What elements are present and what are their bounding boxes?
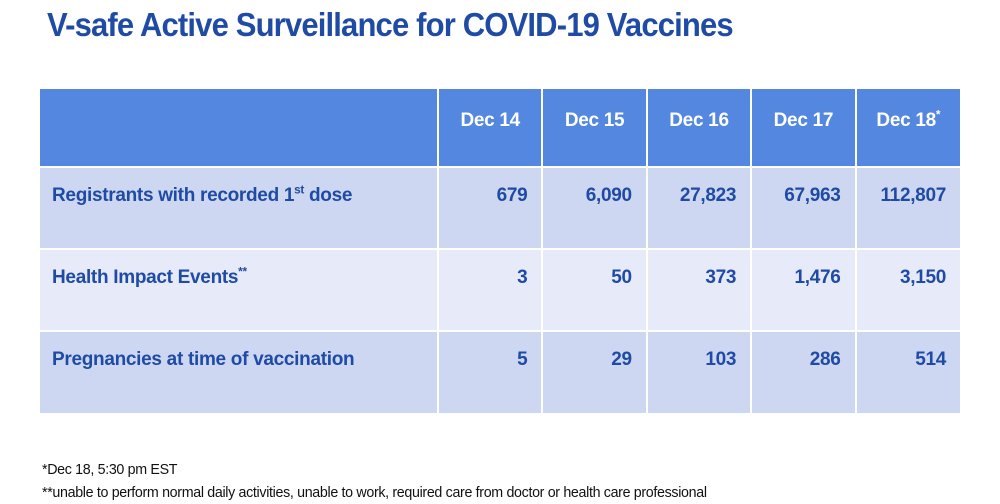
cell-registrants-dec17-value: 67,963 [752,168,854,207]
row-label-registrants: Registrants with recorded 1st dose [40,167,438,249]
cell-pregnancies-dec15: 29 [542,331,646,413]
table-row: Pregnancies at time of vaccination 5 29 … [40,331,960,413]
table-body: Registrants with recorded 1st dose 679 6… [40,167,960,413]
cell-pregnancies-dec14-value: 5 [439,332,541,371]
column-header-dec18: Dec 18* [856,89,960,167]
row-label-health-impact-events-superscript: ** [238,266,247,279]
cell-pregnancies-dec15-value: 29 [543,332,645,371]
column-header-dec14: Dec 14 [438,89,542,167]
column-header-dec17-text: Dec 17 [774,110,833,131]
cell-pregnancies-dec17-value: 286 [752,332,854,371]
row-label-registrants-superscript: st [294,184,304,197]
column-header-dec14-text: Dec 14 [460,110,519,131]
table-row: Registrants with recorded 1st dose 679 6… [40,167,960,249]
cell-health-impact-dec16-value: 373 [648,250,750,289]
column-header-dec15: Dec 15 [542,89,646,167]
slide-canvas: V-safe Active Surveillance for COVID-19 … [0,0,1000,500]
footnote-double-asterisk: **unable to perform normal daily activit… [42,481,945,504]
cell-health-impact-dec16: 373 [647,249,751,331]
row-label-registrants-text-tail: dose [304,185,352,206]
table-header-row: Dec 14 Dec 15 Dec 16 Dec 17 Dec 18* [40,89,960,167]
footnote-asterisk: *Dec 18, 5:30 pm EST [42,458,945,481]
cell-health-impact-dec17: 1,476 [751,249,855,331]
row-label-pregnancies: Pregnancies at time of vaccination [40,331,438,413]
cell-registrants-dec16: 27,823 [647,167,751,249]
page-title: V-safe Active Surveillance for COVID-19 … [47,3,893,47]
cell-registrants-dec16-value: 27,823 [648,168,750,207]
cell-registrants-dec14-value: 679 [439,168,541,207]
cell-registrants-dec18-value: 112,807 [857,168,960,207]
row-label-registrants-text: Registrants with recorded 1 [52,185,294,206]
cell-health-impact-dec18: 3,150 [856,249,960,331]
column-header-dec18-text: Dec 18 [876,110,935,131]
cell-pregnancies-dec14: 5 [438,331,542,413]
cell-registrants-dec17: 67,963 [751,167,855,249]
cell-registrants-dec18: 112,807 [856,167,960,249]
column-header-dec17: Dec 17 [751,89,855,167]
surveillance-table: Dec 14 Dec 15 Dec 16 Dec 17 Dec 18* [40,89,960,413]
cell-pregnancies-dec16: 103 [647,331,751,413]
cell-registrants-dec15-value: 6,090 [543,168,645,207]
cell-pregnancies-dec18: 514 [856,331,960,413]
cell-health-impact-dec15-value: 50 [543,250,645,289]
cell-pregnancies-dec18-value: 514 [857,332,960,371]
column-header-dec15-text: Dec 15 [565,110,624,131]
row-label-health-impact-events-text: Health Impact Events [52,267,238,288]
cell-pregnancies-dec17: 286 [751,331,855,413]
column-header-dec16: Dec 16 [647,89,751,167]
column-header-dec18-footnote-marker: * [936,109,940,122]
column-header-dec16-text: Dec 16 [669,110,728,131]
cell-health-impact-dec15: 50 [542,249,646,331]
row-label-pregnancies-text: Pregnancies at time of vaccination [52,349,354,370]
footnotes: *Dec 18, 5:30 pm EST **unable to perform… [42,458,992,504]
column-header-label [40,89,438,167]
cell-health-impact-dec18-value: 3,150 [857,250,960,289]
cell-health-impact-dec14: 3 [438,249,542,331]
cell-registrants-dec15: 6,090 [542,167,646,249]
cell-registrants-dec14: 679 [438,167,542,249]
row-label-health-impact-events: Health Impact Events** [40,249,438,331]
cell-pregnancies-dec16-value: 103 [648,332,750,371]
table-row: Health Impact Events** 3 50 373 1,476 3,… [40,249,960,331]
cell-health-impact-dec14-value: 3 [439,250,541,289]
table-header: Dec 14 Dec 15 Dec 16 Dec 17 Dec 18* [40,89,960,167]
cell-health-impact-dec17-value: 1,476 [752,250,854,289]
